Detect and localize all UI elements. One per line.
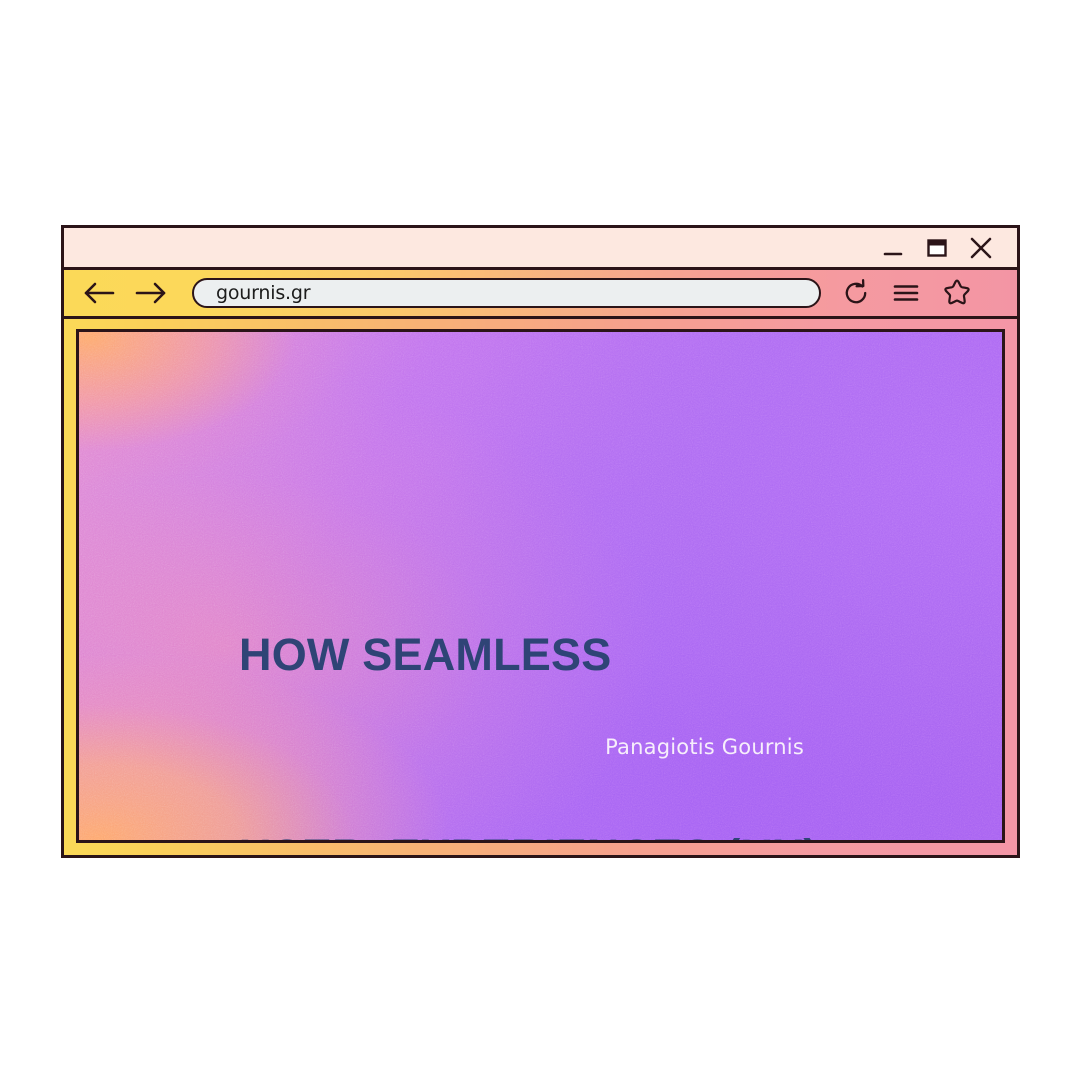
headline-line-2: USER EXPERIENCES (UX) [239,822,819,843]
maximize-icon [924,235,950,261]
browser-viewport: HOW SEAMLESS USER EXPERIENCES (UX) INCRE… [64,319,1017,855]
hamburger-menu-icon [891,280,921,306]
address-bar-text[interactable]: gournis.gr [216,284,310,303]
maximize-button[interactable] [915,228,959,268]
author-byline: Panagiotis Gournis [605,735,804,759]
back-arrow-icon [82,280,116,306]
screenshot-canvas: gournis.gr [0,0,1080,1080]
star-icon [941,277,973,309]
headline-line-1: HOW SEAMLESS [239,621,819,688]
reload-icon [841,278,871,308]
menu-button[interactable] [891,280,921,306]
toolbar-actions [835,277,973,309]
minimize-icon [880,235,906,261]
close-icon [967,234,995,262]
minimize-button[interactable] [871,228,915,268]
bookmark-button[interactable] [941,277,973,309]
address-bar[interactable]: gournis.gr [192,278,821,308]
web-page: HOW SEAMLESS USER EXPERIENCES (UX) INCRE… [76,329,1005,843]
browser-toolbar: gournis.gr [64,270,1017,319]
forward-button[interactable] [134,280,168,306]
navigation-arrows [82,280,168,306]
browser-window: gournis.gr [61,225,1020,858]
page-content: HOW SEAMLESS USER EXPERIENCES (UX) INCRE… [79,332,1002,840]
window-title-bar [64,228,1017,270]
page-title: HOW SEAMLESS USER EXPERIENCES (UX) INCRE… [239,487,819,843]
close-button[interactable] [959,228,1003,268]
forward-arrow-icon [134,280,168,306]
back-button[interactable] [82,280,116,306]
reload-button[interactable] [841,278,871,308]
